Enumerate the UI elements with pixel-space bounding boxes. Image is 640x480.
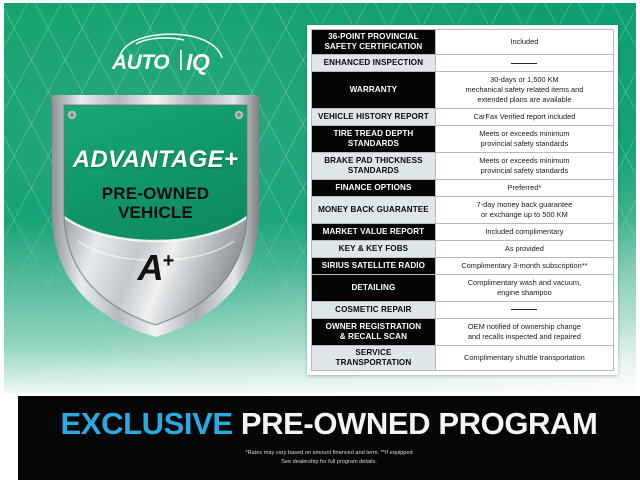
not-included-dash-icon [511, 309, 537, 310]
not-included-dash-icon [511, 63, 537, 64]
table-row: OWNER REGISTRATION& RECALL SCANOEM notif… [312, 318, 614, 345]
feature-label: MONEY BACK GUARANTEE [312, 196, 436, 223]
feature-value: Preferred* [435, 179, 613, 196]
feature-label: MARKET VALUE REPORT [312, 223, 436, 240]
feature-value: Included [435, 30, 613, 55]
table-row: DETAILINGComplimentary wash and vacuum,e… [312, 274, 614, 301]
feature-label: FINANCE OPTIONS [312, 179, 436, 196]
banner-fineprint: *Rates may vary based on amount financed… [18, 449, 640, 466]
svg-text:AUTO: AUTO [111, 51, 169, 74]
feature-label: KEY & KEY FOBS [312, 240, 436, 257]
table-row: MARKET VALUE REPORTIncluded complimentar… [312, 223, 614, 240]
feature-value [435, 55, 613, 72]
feature-value: CarFax Verified report included [435, 108, 613, 125]
feature-label: COSMETIC REPAIR [312, 301, 436, 318]
table-row: ENHANCED INSPECTION [312, 55, 614, 72]
feature-label: SERVICETRANSPORTATION [312, 345, 436, 370]
feature-label: WARRANTY [312, 72, 436, 109]
svg-text:IQ: IQ [186, 49, 210, 75]
table-row: WARRANTY30-days or 1,500 KMmechanical sa… [312, 72, 614, 109]
fineprint-line-2: See dealership for full program details. [281, 459, 377, 465]
feature-value: As provided [435, 240, 613, 257]
table-row: SIRIUS SATELLITE RADIOComplimentary 3-mo… [312, 257, 614, 274]
feature-label: TIRE TREAD DEPTHSTANDARDS [312, 125, 436, 152]
feature-value: Included complimentary [435, 223, 613, 240]
feature-value: Meets or exceeds minimumprovincial safet… [435, 152, 613, 179]
fineprint-line-1: *Rates may vary based on amount financed… [245, 450, 412, 456]
features-table: 36-POINT PROVINCIALSAFETY CERTIFICATIONI… [311, 29, 614, 371]
table-row: KEY & KEY FOBSAs provided [312, 240, 614, 257]
feature-label: BRAKE PAD THICKNESSSTANDARDS [312, 152, 436, 179]
feature-value: Complimentary 3-month subscription** [435, 257, 613, 274]
table-row: TIRE TREAD DEPTHSTANDARDSMeets or exceed… [312, 125, 614, 152]
table-row: SERVICETRANSPORTATIONComplimentary shutt… [312, 345, 614, 370]
hero-panel: AUTO IQ [4, 3, 636, 393]
feature-label: SIRIUS SATELLITE RADIO [312, 257, 436, 274]
feature-value: 30-days or 1,500 KMmechanical safety rel… [435, 72, 613, 109]
promo-page: AUTO IQ [0, 0, 640, 480]
feature-label: VEHICLE HISTORY REPORT [312, 108, 436, 125]
feature-value: Complimentary shuttle transportation [435, 345, 613, 370]
feature-value: Meets or exceeds minimumprovincial safet… [435, 125, 613, 152]
banner-emphasis: EXCLUSIVE [61, 406, 233, 441]
table-row: 36-POINT PROVINCIALSAFETY CERTIFICATIONI… [312, 30, 614, 55]
feature-value [435, 301, 613, 318]
feature-value: 7-day money back guaranteeor exchange up… [435, 196, 613, 223]
table-row: FINANCE OPTIONSPreferred* [312, 179, 614, 196]
features-table-card: 36-POINT PROVINCIALSAFETY CERTIFICATIONI… [307, 25, 618, 375]
autoiq-logo: AUTO IQ [104, 25, 234, 77]
feature-label: ENHANCED INSPECTION [312, 55, 436, 72]
feature-label: 36-POINT PROVINCIALSAFETY CERTIFICATION [312, 30, 436, 55]
features-table-body: 36-POINT PROVINCIALSAFETY CERTIFICATIONI… [312, 30, 614, 371]
advantage-plus-shield: ADVANTAGE+ PRE-OWNED VEHICLE A+ [48, 91, 263, 339]
feature-value: Complimentary wash and vacuum,engine sha… [435, 274, 613, 301]
banner-rest: PRE-OWNED PROGRAM [233, 406, 598, 441]
banner-title: EXCLUSIVE PRE-OWNED PROGRAM [18, 406, 640, 442]
table-row: VEHICLE HISTORY REPORTCarFax Verified re… [312, 108, 614, 125]
table-row: MONEY BACK GUARANTEE7-day money back gua… [312, 196, 614, 223]
table-row: BRAKE PAD THICKNESSSTANDARDSMeets or exc… [312, 152, 614, 179]
feature-label: DETAILING [312, 274, 436, 301]
feature-value: OEM notified of ownership changeand reca… [435, 318, 613, 345]
program-banner: EXCLUSIVE PRE-OWNED PROGRAM *Rates may v… [18, 396, 640, 480]
table-row: COSMETIC REPAIR [312, 301, 614, 318]
feature-label: OWNER REGISTRATION& RECALL SCAN [312, 318, 436, 345]
